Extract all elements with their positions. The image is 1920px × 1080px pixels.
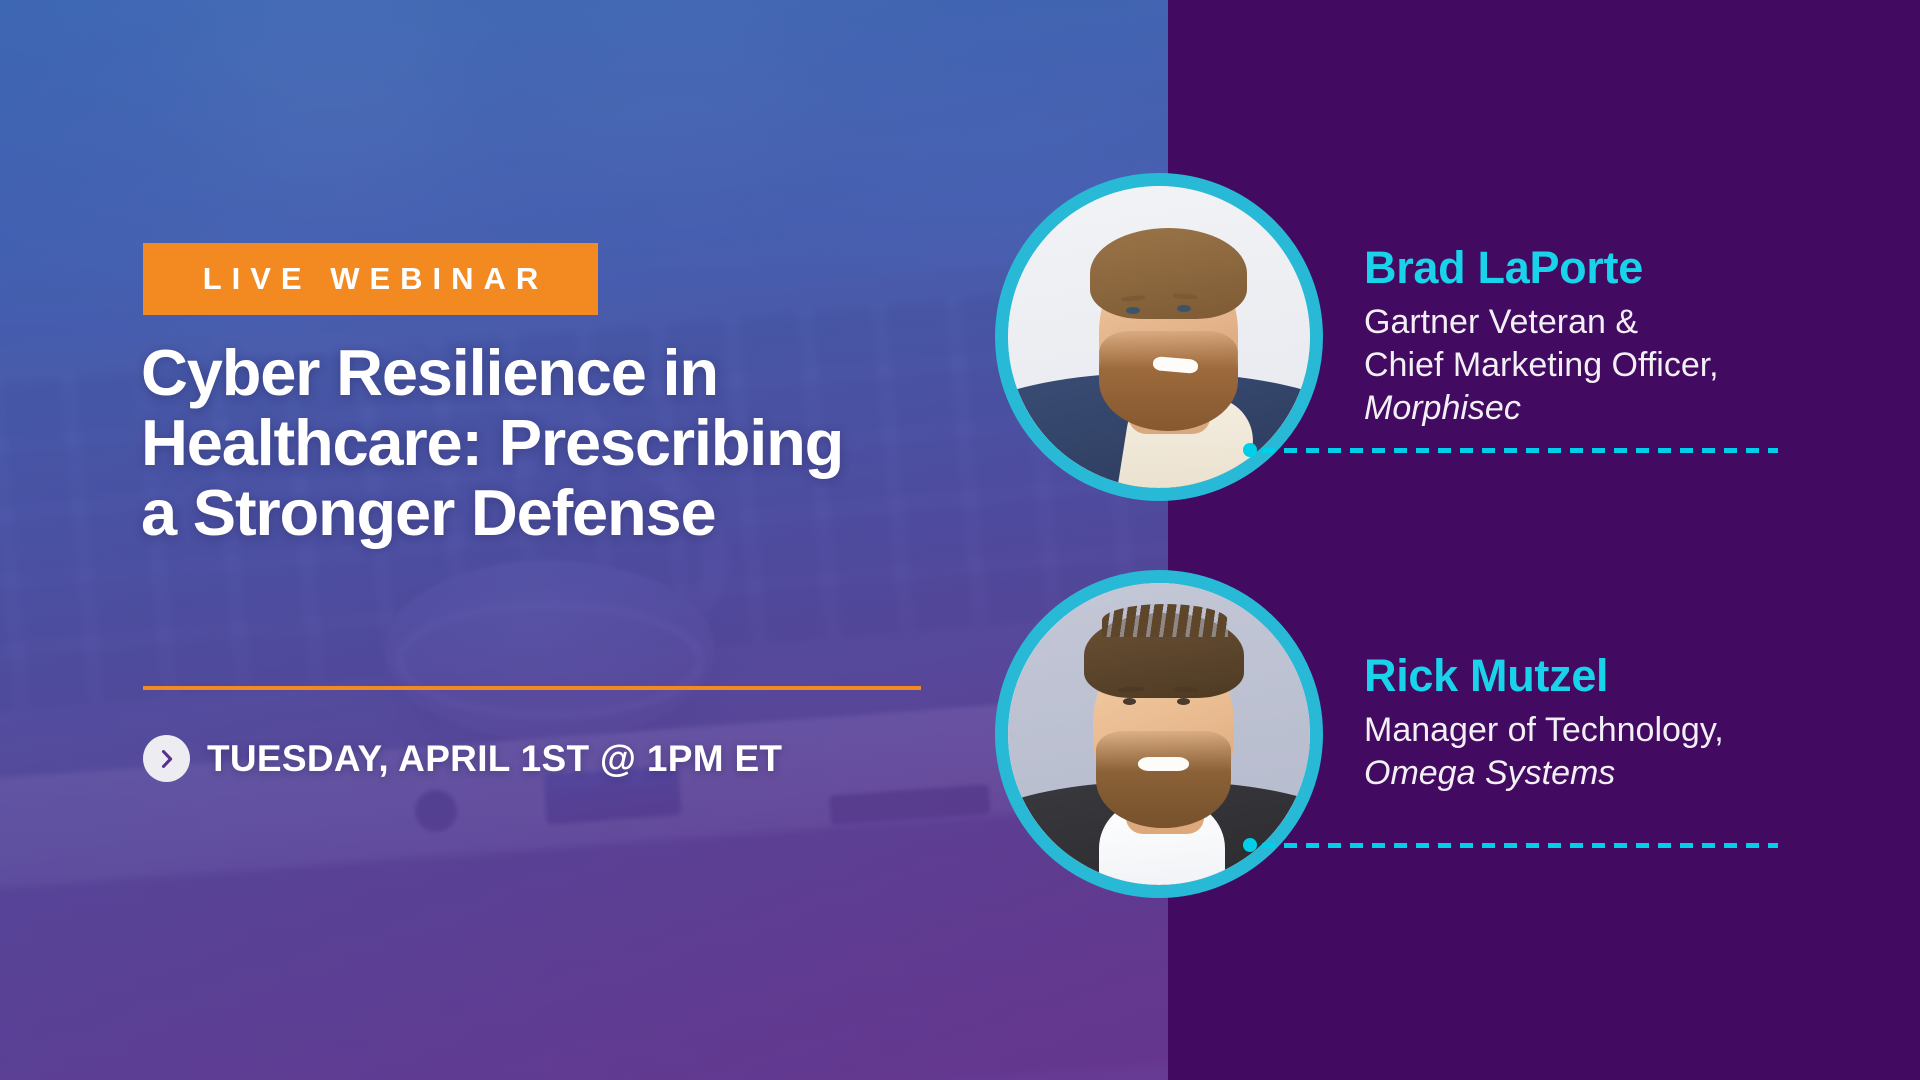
right-speakers-panel	[1168, 0, 1920, 1080]
live-webinar-badge: LIVE WEBINAR	[143, 243, 598, 315]
headshot-hair-spikes	[1102, 604, 1229, 637]
headshot-eye	[1177, 698, 1190, 705]
speaker-connector-line-2	[1243, 838, 1778, 852]
headshot-eye	[1123, 698, 1136, 705]
live-webinar-badge-label: LIVE WEBINAR	[193, 261, 549, 297]
connector-dashes	[1262, 448, 1778, 453]
speaker-name: Brad LaPorte	[1364, 242, 1920, 294]
speaker-name: Rick Mutzel	[1364, 650, 1920, 702]
speaker-role-line-1: Manager of Technology,	[1364, 709, 1920, 752]
speaker-role: Gartner Veteran & Chief Marketing Office…	[1364, 301, 1920, 387]
page-title-line-3: a Stronger Defense	[141, 478, 981, 548]
hero-content: LIVE WEBINAR Cyber Resilience in Healthc…	[143, 0, 1103, 1080]
page-title-line-1: Cyber Resilience in	[141, 338, 981, 408]
speaker-company: Omega Systems	[1364, 752, 1920, 795]
speaker-info-brad-laporte: Brad LaPorte Gartner Veteran & Chief Mar…	[1364, 242, 1920, 430]
webinar-date-row: TUESDAY, APRIL 1ST @ 1PM ET	[143, 735, 782, 782]
speaker-company: Morphisec	[1364, 387, 1920, 430]
speaker-role-line-1: Gartner Veteran &	[1364, 301, 1920, 344]
page-title: Cyber Resilience in Healthcare: Prescrib…	[141, 338, 981, 548]
speaker-info-rick-mutzel: Rick Mutzel Manager of Technology, Omega…	[1364, 650, 1920, 795]
headshot-beard	[1096, 731, 1232, 828]
headshot-eye	[1126, 307, 1140, 314]
chevron-right-icon	[143, 735, 190, 782]
headshot-eyebrow	[1172, 686, 1198, 692]
speaker-connector-line-1	[1243, 443, 1778, 457]
headshot-hair	[1090, 228, 1247, 319]
webinar-date-text: TUESDAY, APRIL 1ST @ 1PM ET	[207, 738, 782, 780]
connector-dot	[1243, 838, 1257, 852]
orange-divider	[143, 686, 921, 690]
page-title-line-2: Healthcare: Prescribing	[141, 408, 981, 478]
connector-dot	[1243, 443, 1257, 457]
speaker-role: Manager of Technology,	[1364, 709, 1920, 752]
connector-dashes	[1262, 843, 1778, 848]
headshot-smile	[1138, 757, 1189, 771]
headshot-beard	[1099, 331, 1238, 431]
webinar-promo-banner: LIVE WEBINAR Cyber Resilience in Healthc…	[0, 0, 1920, 1080]
speaker-role-line-2: Chief Marketing Officer,	[1364, 344, 1920, 387]
